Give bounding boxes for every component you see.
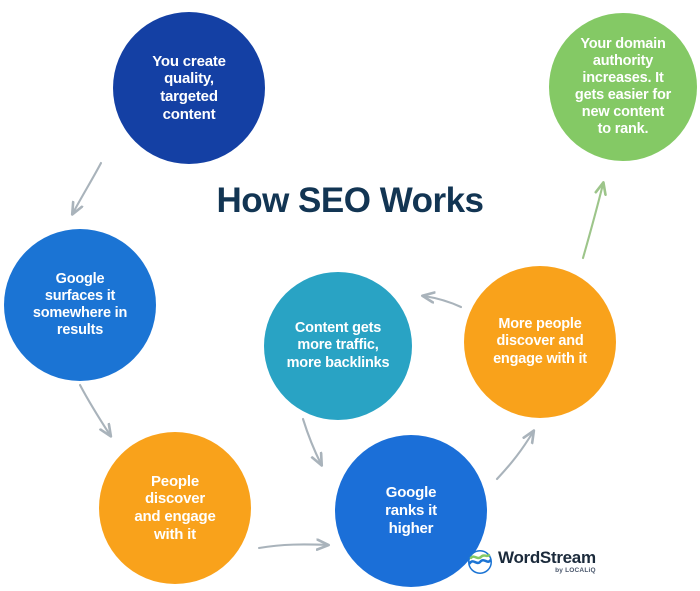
page-title: How SEO Works [0, 181, 700, 221]
node-google-ranks-it-higher[interactable]: Google ranks it higher [335, 435, 487, 587]
wordstream-mark-icon [468, 550, 492, 574]
node-label: Google surfaces it somewhere in results [25, 271, 135, 339]
arrow-people-to-ranks [259, 544, 327, 548]
wordstream-logo: WordStream by LOCALiQ [468, 549, 596, 575]
arrow-ranks-to-morepeople [497, 432, 533, 479]
arrow-surface-to-people [80, 385, 110, 435]
node-label: You create quality, targeted content [144, 53, 234, 124]
arrow-morepeople-to-content [424, 296, 461, 307]
node-people-discover[interactable]: People discover and engage with it [99, 432, 251, 584]
node-label: More people discover and engage with it [485, 316, 595, 367]
node-domain-authority-increases[interactable]: Your domain authority increases. It gets… [549, 13, 697, 161]
brand-name: WordStream [498, 549, 596, 566]
arrow-content-to-ranks [303, 419, 321, 464]
node-label: Your domain authority increases. It gets… [567, 36, 679, 139]
node-you-create-quality-content[interactable]: You create quality, targeted content [113, 12, 265, 164]
node-label: People discover and engage with it [126, 473, 223, 544]
node-content-gets-more-traffic[interactable]: Content gets more traffic, more backlink… [264, 272, 412, 420]
node-label: Content gets more traffic, more backlink… [279, 320, 398, 371]
infographic-canvas: You create quality, targeted content You… [0, 0, 700, 591]
node-label: Google ranks it higher [377, 484, 445, 537]
wordstream-wordmark: WordStream by LOCALiQ [498, 549, 596, 575]
node-google-surfaces-it[interactable]: Google surfaces it somewhere in results [4, 229, 156, 381]
brand-subtitle: by LOCALiQ [498, 568, 596, 575]
node-more-people-discover[interactable]: More people discover and engage with it [464, 266, 616, 418]
